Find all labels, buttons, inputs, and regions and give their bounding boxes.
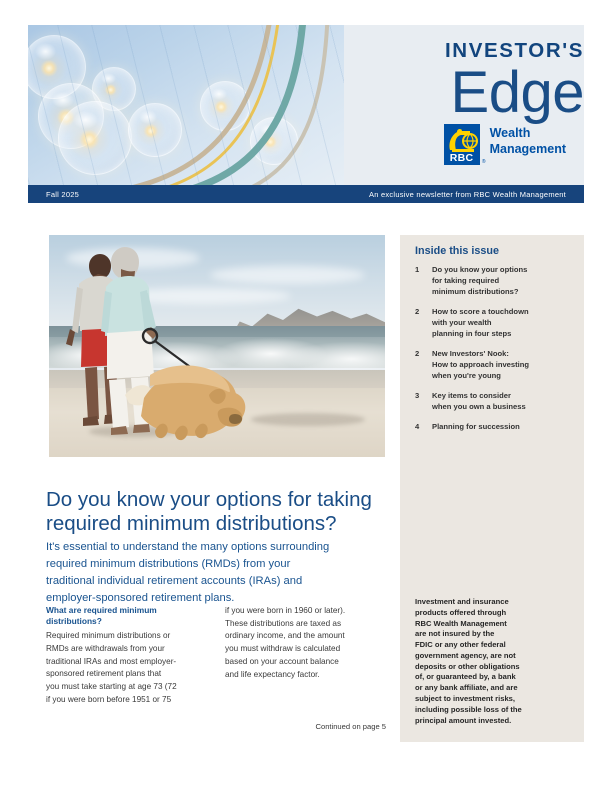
registered-trademark-icon: ® [482, 159, 486, 165]
toc-entry[interactable]: 3 Key items to consider when you own a b… [415, 390, 570, 412]
bulb-icon [200, 81, 250, 131]
toc-entry[interactable]: 2 How to score a touchdown with your wea… [415, 306, 570, 339]
issue-date-bar: Fall 2025 An exclusive newsletter from R… [28, 185, 584, 203]
masthead-title-block: INVESTOR'S Edge [292, 41, 584, 122]
article-body-text: Required minimum distributions or RMDs a… [46, 630, 207, 706]
toc-page-number: 3 [415, 390, 424, 412]
toc-page-number: 1 [415, 264, 424, 297]
rbc-lion-globe-glyph [444, 125, 480, 155]
brand-line-wealth: Wealth [490, 125, 566, 141]
article-columns: What are required minimum distributions?… [46, 605, 386, 706]
toc-entry[interactable]: 4 Planning for succession [415, 421, 570, 432]
newsletter-tagline: An exclusive newsletter from RBC Wealth … [369, 190, 566, 199]
bulb-icon [250, 117, 298, 165]
toc-entry-title: How to score a touchdown with your wealt… [432, 306, 529, 339]
brand-line-management: Management [490, 141, 566, 157]
masthead-kicker: INVESTOR'S [292, 41, 584, 62]
rbc-lion-shield-icon: RBC ® [444, 124, 480, 165]
article-column-one: What are required minimum distributions?… [46, 605, 207, 706]
continued-on-page-link[interactable]: Continued on page 5 [46, 722, 386, 731]
brand-lockup-text: Wealth Management [490, 124, 566, 157]
article-subheading: What are required minimum distributions? [46, 605, 207, 627]
photo-golden-retriever-dog [49, 235, 385, 457]
hero-photo-beach-couple-with-dog [49, 235, 385, 457]
sidebar-content: Inside this issue 1 Do you know your opt… [400, 235, 584, 432]
legal-disclosure-text: Investment and insurance products offere… [415, 597, 570, 726]
sidebar-title: Inside this issue [415, 245, 570, 257]
toc-entry-title: New Investors' Nook: How to approach inv… [432, 348, 529, 381]
bulb-icon [128, 103, 182, 157]
rbc-wordmark: RBC [444, 152, 480, 164]
bulb-icon [28, 35, 86, 99]
toc-page-number: 4 [415, 421, 424, 432]
masthead: INVESTOR'S Edge RBC ® Wealth Management [28, 25, 584, 203]
toc-entry[interactable]: 2 New Investors' Nook: How to approach i… [415, 348, 570, 381]
toc-page-number: 2 [415, 348, 424, 381]
inside-this-issue-sidebar: Inside this issue 1 Do you know your opt… [400, 235, 584, 742]
toc-entry-title: Key items to consider when you own a bus… [432, 390, 526, 412]
bulb-icon [58, 101, 132, 175]
toc-entry-title: Planning for succession [432, 421, 520, 432]
masthead-main-title: Edge [292, 63, 584, 122]
issue-date: Fall 2025 [46, 190, 79, 199]
toc-entry-title: Do you know your options for taking requ… [432, 264, 527, 297]
article-deck: It's essential to understand the many op… [46, 539, 386, 607]
rbc-wealth-management-logo: RBC ® Wealth Management [444, 124, 566, 165]
toc-entry[interactable]: 1 Do you know your options for taking re… [415, 264, 570, 297]
bulb-icon [38, 83, 104, 149]
article-body-text: if you were born in 1960 or later). Thes… [225, 605, 386, 681]
article-headline: Do you know your options for taking requ… [46, 488, 391, 536]
toc-page-number: 2 [415, 306, 424, 339]
bulb-icon [92, 67, 136, 111]
article-column-two: if you were born in 1960 or later). Thes… [225, 605, 386, 706]
